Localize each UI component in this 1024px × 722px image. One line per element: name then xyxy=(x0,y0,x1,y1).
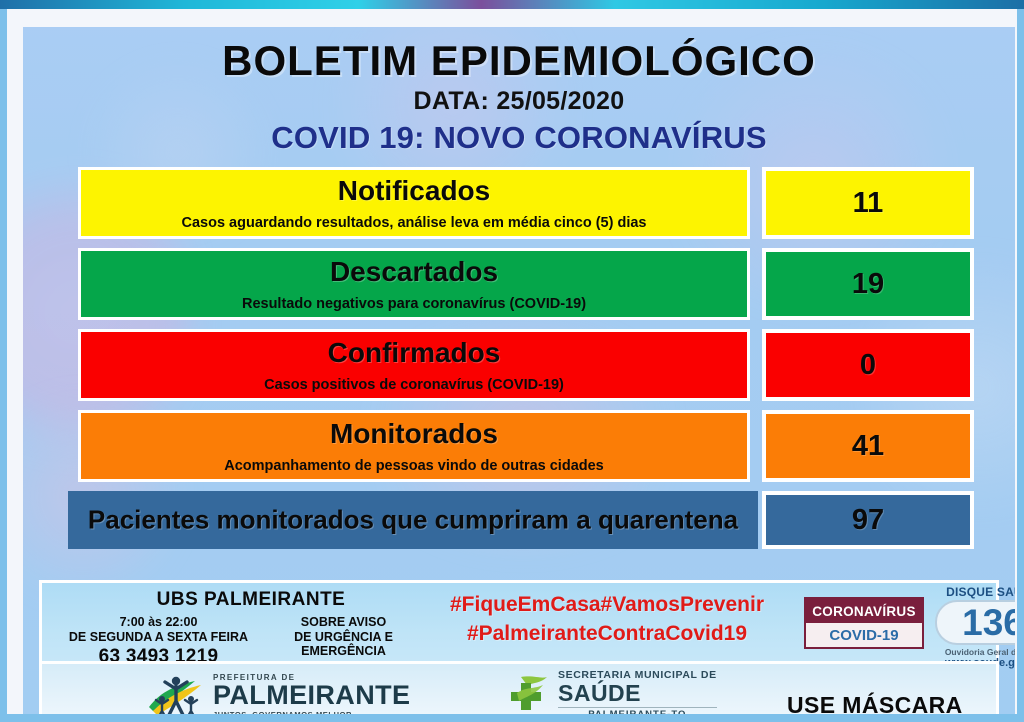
row-label-bar-confirmados: Confirmados Casos positivos de coronavír… xyxy=(78,329,750,401)
category-description: Resultado negativos para coronavírus (CO… xyxy=(81,296,747,312)
poster-outer-frame: BOLETIM EPIDEMIOLÓGICO DATA: 25/05/2020 … xyxy=(7,9,1017,714)
category-name: Confirmados xyxy=(81,337,747,369)
prefeitura-tagline: JUNTOS, GOVERNAMOS MELHOR. xyxy=(213,711,410,714)
disque-saude-badge: DISQUE SAÚDE 136 Ouvidoria Geral do SUS … xyxy=(935,585,1015,669)
table-row: Confirmados Casos positivos de coronavír… xyxy=(78,329,973,401)
value-box-quarentena: 97 xyxy=(762,491,974,549)
prefeitura-emblem-icon xyxy=(147,673,205,714)
table-row: Pacientes monitorados que cumpriram a qu… xyxy=(78,491,973,549)
category-name: Descartados xyxy=(81,256,747,288)
bulletin-date: DATA: 25/05/2020 xyxy=(23,87,1015,116)
value-box-monitorados: 41 xyxy=(762,410,974,482)
category-description: Acompanhamento de pessoas vindo de outra… xyxy=(81,458,747,474)
statistics-table: Notificados Casos aguardando resultados,… xyxy=(78,167,973,549)
ubs-days: DE SEGUNDA A SEXTA FEIRA xyxy=(66,630,251,644)
category-name: Monitorados xyxy=(81,418,747,450)
prefeitura-name: PALMEIRANTE xyxy=(213,682,410,709)
disque-saude-number: 136 xyxy=(935,600,1015,645)
row-label-bar-descartados: Descartados Resultado negativos para cor… xyxy=(78,248,750,320)
ubs-title: UBS PALMEIRANTE xyxy=(66,589,436,611)
row-label-bar-quarentena: Pacientes monitorados que cumpriram a qu… xyxy=(68,491,758,549)
use-mask-text: USE MÁSCARA xyxy=(787,692,963,714)
secretaria-small-label: SECRETARIA MUNICIPAL DE xyxy=(558,670,717,681)
prefeitura-logo: PREFEITURA DE PALMEIRANTE JUNTOS, GOVERN… xyxy=(147,673,410,714)
row-label-bar-monitorados: Monitorados Acompanhamento de pessoas vi… xyxy=(78,410,750,482)
category-value: 41 xyxy=(852,430,884,463)
bulletin-poster: BOLETIM EPIDEMIOLÓGICO DATA: 25/05/2020 … xyxy=(0,0,1024,722)
category-name: Pacientes monitorados que cumpriram a qu… xyxy=(68,505,758,536)
disque-saude-title: DISQUE SAÚDE xyxy=(935,585,1015,599)
poster-header: BOLETIM EPIDEMIOLÓGICO DATA: 25/05/2020 … xyxy=(23,39,1015,156)
category-value: 19 xyxy=(852,268,884,301)
coronavirus-badge-top: CORONAVÍRUS xyxy=(806,599,922,623)
category-value: 11 xyxy=(853,187,884,220)
category-description: Casos aguardando resultados, análise lev… xyxy=(81,215,747,231)
ubs-hours: 7:00 às 22:00 xyxy=(66,615,251,629)
coronavirus-badge: CORONAVÍRUS COVID-19 xyxy=(804,597,924,649)
secretaria-name: SAÚDE xyxy=(558,681,717,705)
category-description: Casos positivos de coronavírus (COVID-19… xyxy=(81,377,747,393)
hashtag-block: #FiqueEmCasa#VamosPrevenir #PalmeiranteC… xyxy=(437,591,777,649)
hashtag-line-1: #FiqueEmCasa#VamosPrevenir xyxy=(437,591,777,620)
disque-saude-subtitle: Ouvidoria Geral do SUS xyxy=(935,647,1015,657)
table-row: Monitorados Acompanhamento de pessoas vi… xyxy=(78,410,973,482)
value-box-notificados: 11 xyxy=(762,167,974,239)
category-value: 0 xyxy=(860,349,876,382)
ubs-emergency-label: DE URGÊNCIA E EMERGÊNCIA xyxy=(251,630,436,658)
health-cross-icon xyxy=(507,673,551,714)
value-box-descartados: 19 xyxy=(762,248,974,320)
table-row: Descartados Resultado negativos para cor… xyxy=(78,248,973,320)
secretaria-saude-logo: SECRETARIA MUNICIPAL DE SAÚDE PALMEIRANT… xyxy=(507,670,717,714)
ubs-oncall-label: SOBRE AVISO xyxy=(251,615,436,629)
table-row: Notificados Casos aguardando resultados,… xyxy=(78,167,973,239)
top-accent-strip xyxy=(0,0,1024,9)
row-label-bar-notificados: Notificados Casos aguardando resultados,… xyxy=(78,167,750,239)
value-box-confirmados: 0 xyxy=(762,329,974,401)
secretaria-divider xyxy=(558,707,717,708)
category-name: Notificados xyxy=(81,175,747,207)
hashtag-line-2: #PalmeiranteContraCovid19 xyxy=(437,620,777,649)
secretaria-city: PALMEIRANTE-TO xyxy=(558,710,717,714)
poster-inner-panel: BOLETIM EPIDEMIOLÓGICO DATA: 25/05/2020 … xyxy=(23,27,1015,714)
category-value: 97 xyxy=(852,504,884,537)
page-title: BOLETIM EPIDEMIOLÓGICO xyxy=(23,39,1015,84)
page-subtitle: COVID 19: NOVO CORONAVÍRUS xyxy=(23,120,1015,156)
coronavirus-badge-bottom: COVID-19 xyxy=(806,623,922,647)
logo-bar: PREFEITURA DE PALMEIRANTE JUNTOS, GOVERN… xyxy=(39,661,999,714)
